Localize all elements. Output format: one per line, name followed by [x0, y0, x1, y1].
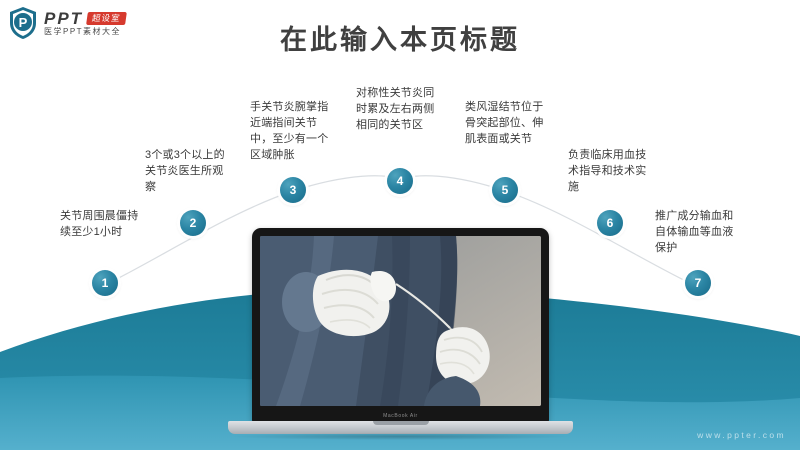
laptop-mockup: MacBook Air — [228, 228, 573, 450]
step-number: 2 — [190, 217, 197, 229]
laptop-notch — [373, 421, 429, 425]
step-number: 4 — [397, 175, 404, 187]
step-label-6: 负责临床用血技术指导和技术实施 — [568, 148, 656, 196]
step-node-5[interactable]: 5 — [492, 177, 518, 203]
laptop-lid: MacBook Air — [252, 228, 549, 423]
laptop-screen[interactable] — [260, 236, 541, 406]
step-node-3[interactable]: 3 — [280, 177, 306, 203]
step-number: 6 — [607, 217, 614, 229]
slide-canvas: P PPT 超设室 医学PPT素材大全 在此输入本页标题 1 2 3 4 5 6… — [0, 0, 800, 450]
step-number: 5 — [502, 184, 509, 196]
step-number: 7 — [695, 277, 702, 289]
page-title: 在此输入本页标题 — [0, 18, 800, 57]
step-label-1: 关节周围晨僵持续至少1小时 — [60, 209, 148, 241]
step-number: 3 — [290, 184, 297, 196]
step-node-2[interactable]: 2 — [180, 210, 206, 236]
step-number: 1 — [102, 277, 109, 289]
step-label-3: 手关节炎腕掌指近端指间关节中，至少有一个区域肿胀 — [250, 100, 338, 164]
step-label-2: 3个或3个以上的关节炎医生所观察 — [145, 148, 233, 196]
step-label-4: 对称性关节炎同时累及左右两侧相同的关节区 — [356, 86, 444, 134]
medical-photo — [260, 236, 541, 406]
step-node-6[interactable]: 6 — [597, 210, 623, 236]
site-watermark: www.ppter.com — [697, 430, 786, 440]
laptop-shadow — [234, 433, 567, 440]
step-label-5: 类风湿结节位于骨突起部位、伸肌表面或关节 — [465, 100, 553, 148]
step-node-1[interactable]: 1 — [92, 270, 118, 296]
step-node-4[interactable]: 4 — [387, 168, 413, 194]
step-label-7: 推广成分输血和自体输血等血液保护 — [655, 209, 743, 257]
laptop-brand-label: MacBook Air — [252, 413, 549, 419]
step-node-7[interactable]: 7 — [685, 270, 711, 296]
